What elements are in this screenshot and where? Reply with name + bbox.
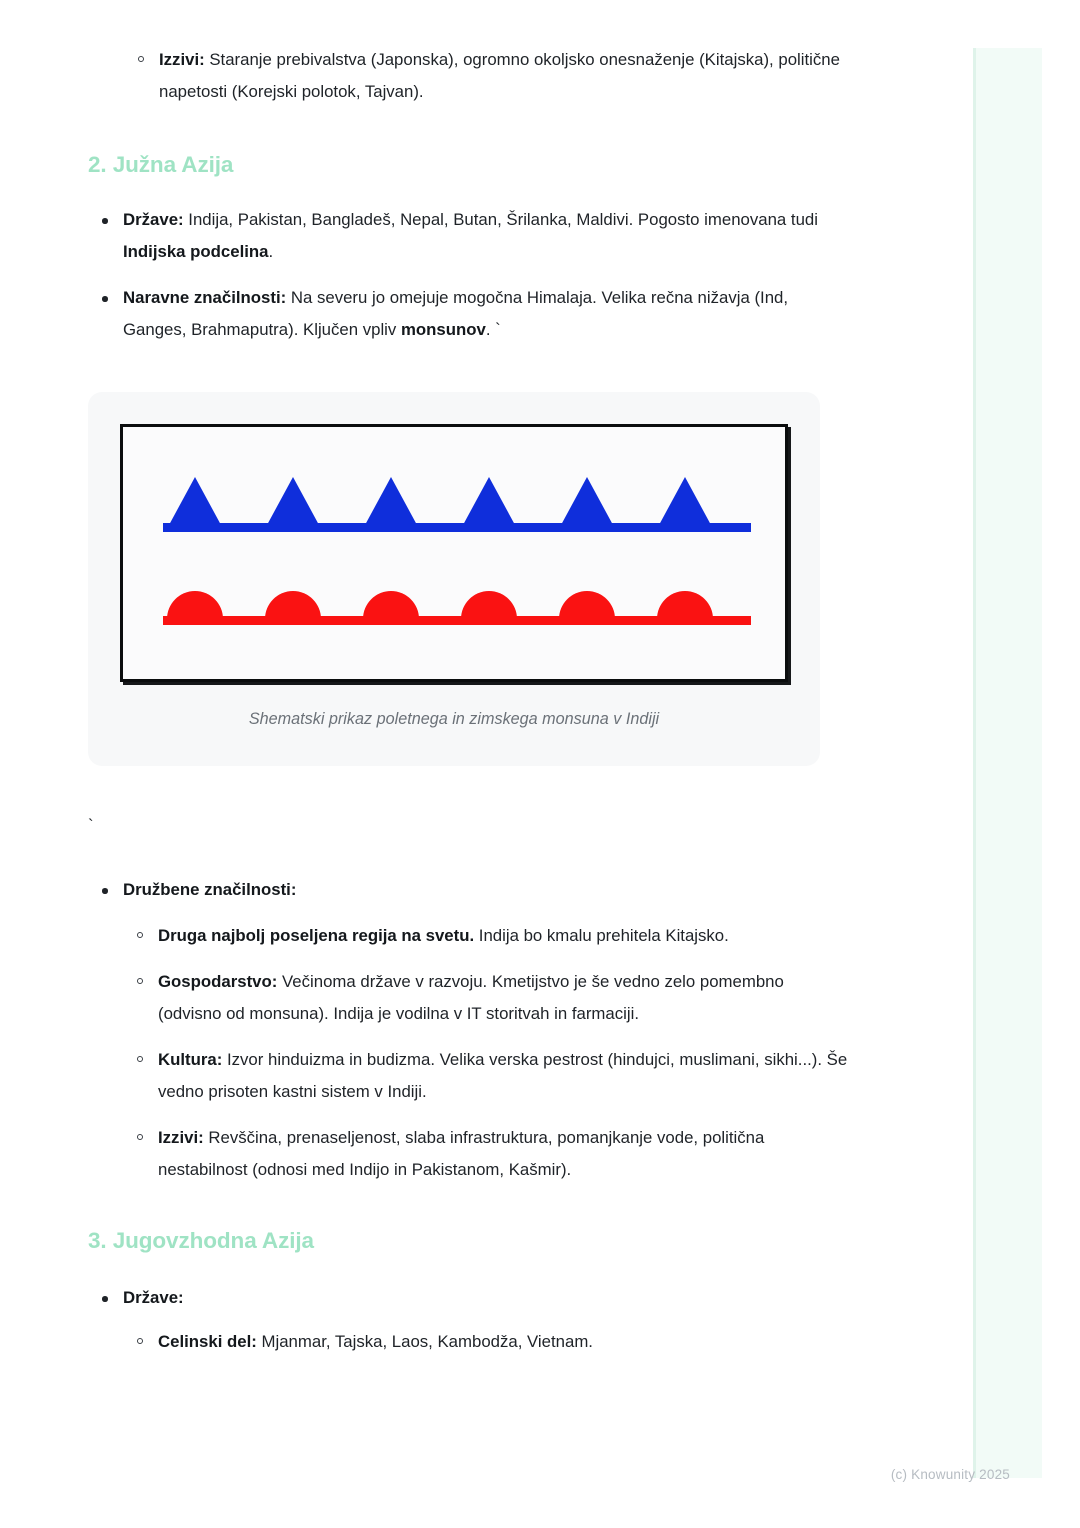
list-item: Druga najbolj poseljena regija na svetu.… [123,920,848,952]
page-edge-stripe [973,48,1042,1478]
monsoon-front-diagram [123,427,785,679]
list-item-bold-tail: Indijska podcelina [123,242,268,261]
list-item-body: Mjanmar, Tajska, Laos, Kambodža, Vietnam… [257,1332,593,1351]
list-item-lead: Kultura: [158,1050,222,1069]
list-item-tail: . ` [486,320,501,339]
document-content: Izzivi: Staranje prebivalstva (Japonska)… [88,44,848,1366]
list-item-body: Revščina, prenaseljenost, slaba infrastr… [158,1128,764,1179]
list-item-lead: Izzivi: [159,50,205,69]
list-item: Države: Indija, Pakistan, Bangladeš, Nep… [88,204,848,268]
section3-list: Države: Celinski del: Mjanmar, Tajska, L… [88,1282,848,1358]
section2-list: Države: Indija, Pakistan, Bangladeš, Nep… [88,204,848,346]
list-item: Družbene značilnosti: Druga najbolj pose… [88,874,848,1186]
stray-backtick: ` [88,810,848,842]
list-item-body: Staranje prebivalstva (Japonska), ogromn… [159,50,840,101]
list-item-lead: Celinski del: [158,1332,257,1351]
top-sublist: Izzivi: Staranje prebivalstva (Japonska)… [124,44,848,108]
social-characteristics-list: Družbene značilnosti: Druga najbolj pose… [88,874,848,1186]
social-sublist: Druga najbolj poseljena regija na svetu.… [123,920,848,1186]
list-item-tail: . [268,242,273,261]
list-item-lead: Države: [123,210,184,229]
list-item-body: Indija, Pakistan, Bangladeš, Nepal, Buta… [184,210,818,229]
list-item: Celinski del: Mjanmar, Tajska, Laos, Kam… [123,1326,848,1358]
section-heading-2: 2. Južna Azija [88,150,848,180]
list-item: Gospodarstvo: Večinoma države v razvoju.… [123,966,848,1030]
list-item: Kultura: Izvor hinduizma in budizma. Vel… [123,1044,848,1108]
diagram-background [123,427,785,679]
section3-sublist: Celinski del: Mjanmar, Tajska, Laos, Kam… [123,1326,848,1358]
list-item-body: Izvor hinduizma in budizma. Velika versk… [158,1050,847,1101]
figure-caption: Shematski prikaz poletnega in zimskega m… [120,708,788,730]
document-page: Izzivi: Staranje prebivalstva (Japonska)… [0,0,960,1528]
list-item-body: Indija bo kmalu prehitela Kitajsko. [474,926,729,945]
top-continuation-block: Izzivi: Staranje prebivalstva (Japonska)… [88,44,848,108]
list-item-lead: Države: [123,1288,184,1307]
list-item-lead: Naravne značilnosti: [123,288,286,307]
section-heading-3: 3. Jugovzhodna Azija [88,1226,848,1256]
list-item-bold-tail: monsunov [401,320,486,339]
monsoon-figure-frame [120,424,788,682]
list-item: Izzivi: Staranje prebivalstva (Japonska)… [124,44,848,108]
list-item-lead: Gospodarstvo: [158,972,277,991]
list-item: Izzivi: Revščina, prenaseljenost, slaba … [123,1122,848,1186]
list-item: Naravne značilnosti: Na severu jo omejuj… [88,282,848,346]
list-item-lead: Druga najbolj poseljena regija na svetu. [158,926,474,945]
list-item-lead: Izzivi: [158,1128,204,1147]
list-item: Države: Celinski del: Mjanmar, Tajska, L… [88,1282,848,1358]
list-item-lead: Družbene značilnosti: [123,880,296,899]
footer-credit: (c) Knowunity 2025 [891,1467,1010,1482]
monsoon-figure-card: Shematski prikaz poletnega in zimskega m… [88,392,820,766]
